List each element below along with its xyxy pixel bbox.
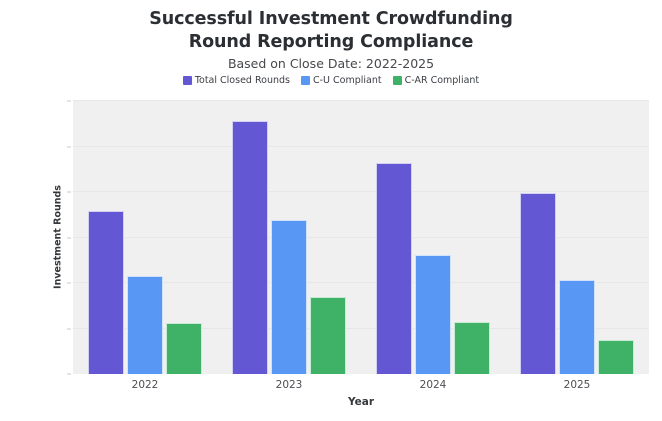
y-axis-title: Investment Rounds bbox=[52, 185, 63, 289]
bar-group bbox=[217, 101, 361, 374]
legend-item[interactable]: C-U Compliant bbox=[301, 75, 382, 86]
legend-swatch-icon bbox=[393, 76, 402, 85]
chart-title-block: Successful Investment Crowdfunding Round… bbox=[0, 8, 662, 71]
bar[interactable] bbox=[271, 220, 307, 374]
legend-label: Total Closed Rounds bbox=[195, 75, 290, 86]
y-axis-tick-mark bbox=[67, 237, 71, 238]
x-axis-title: Year bbox=[73, 396, 649, 408]
y-axis-tick-mark bbox=[67, 146, 71, 147]
chart-container: Successful Investment Crowdfunding Round… bbox=[0, 0, 662, 421]
bar[interactable] bbox=[88, 211, 124, 374]
bar[interactable] bbox=[559, 280, 595, 374]
bar[interactable] bbox=[415, 255, 451, 374]
chart-title: Successful Investment Crowdfunding Round… bbox=[0, 8, 662, 54]
bar[interactable] bbox=[127, 276, 163, 374]
x-axis-tick-label: 2024 bbox=[420, 379, 447, 391]
chart-title-line-1: Successful Investment Crowdfunding bbox=[0, 8, 662, 31]
bars-layer bbox=[73, 101, 649, 374]
y-axis-tick-mark bbox=[67, 374, 71, 375]
legend-swatch-icon bbox=[183, 76, 192, 85]
bar-group bbox=[505, 101, 649, 374]
bar-group bbox=[361, 101, 505, 374]
legend-label: C-AR Compliant bbox=[405, 75, 480, 86]
plot-area bbox=[73, 101, 649, 374]
y-axis-tick-mark bbox=[67, 283, 71, 284]
bar[interactable] bbox=[376, 163, 412, 374]
x-axis-tick-label: 2022 bbox=[132, 379, 159, 391]
bar[interactable] bbox=[166, 323, 202, 374]
chart-title-line-2: Round Reporting Compliance bbox=[0, 31, 662, 54]
y-axis-tick-mark bbox=[67, 328, 71, 329]
bar-group bbox=[73, 101, 217, 374]
y-axis-tick-mark bbox=[67, 192, 71, 193]
bar[interactable] bbox=[454, 322, 490, 374]
legend-item[interactable]: Total Closed Rounds bbox=[183, 75, 290, 86]
bar[interactable] bbox=[520, 193, 556, 374]
legend-swatch-icon bbox=[301, 76, 310, 85]
bar[interactable] bbox=[598, 340, 634, 374]
y-axis-tick-mark bbox=[67, 101, 71, 102]
chart-subtitle: Based on Close Date: 2022-2025 bbox=[0, 56, 662, 71]
x-axis-tick-label: 2025 bbox=[564, 379, 591, 391]
legend-label: C-U Compliant bbox=[313, 75, 382, 86]
bar[interactable] bbox=[310, 297, 346, 374]
bar[interactable] bbox=[232, 121, 268, 374]
legend-item[interactable]: C-AR Compliant bbox=[393, 75, 480, 86]
x-axis-tick-label: 2023 bbox=[276, 379, 303, 391]
chart-legend: Total Closed RoundsC-U CompliantC-AR Com… bbox=[0, 75, 662, 86]
